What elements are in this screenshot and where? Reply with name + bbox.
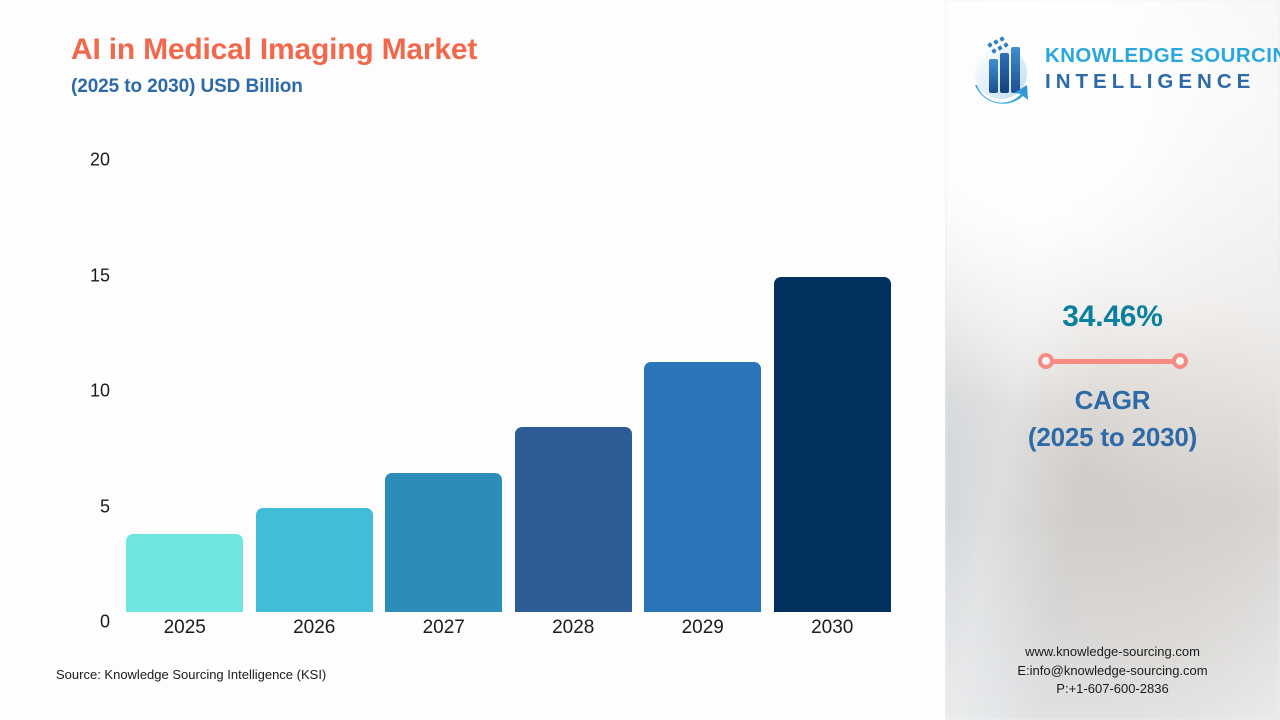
source-note: Source: Knowledge Sourcing Intelligence … xyxy=(56,667,326,682)
cagr-connector-graphic xyxy=(1038,349,1188,373)
y-axis-tick-label: 20 xyxy=(90,150,110,171)
bar-group: 2030 xyxy=(768,150,898,612)
bar-group: 2027 xyxy=(379,150,509,612)
bar-group: 2026 xyxy=(250,150,380,612)
brand-sidebar: KNOWLEDGE SOURCING INTELLIGENCE 34.46% C… xyxy=(945,0,1280,720)
contact-email[interactable]: E:info@knowledge-sourcing.com xyxy=(945,662,1280,680)
connector-dot-left xyxy=(1038,353,1054,369)
chart-panel: AI in Medical Imaging Market (2025 to 20… xyxy=(0,0,945,720)
bar-2028[interactable] xyxy=(515,427,632,612)
page-title: AI in Medical Imaging Market xyxy=(71,33,477,67)
bar-2025[interactable] xyxy=(126,534,243,612)
bar-2026[interactable] xyxy=(256,508,373,612)
contact-block: www.knowledge-sourcing.com E:info@knowle… xyxy=(945,643,1280,698)
y-axis-tick-label: 15 xyxy=(90,265,110,286)
y-axis-tick-label: 5 xyxy=(100,496,110,517)
bar-2029[interactable] xyxy=(644,362,761,612)
contact-phone: P:+1-607-600-2836 xyxy=(945,680,1280,698)
x-axis-tick-label: 2029 xyxy=(638,617,768,639)
bar-group: 2029 xyxy=(638,150,768,612)
cagr-block: 34.46% CAGR (2025 to 2030) xyxy=(945,300,1280,453)
brand-logo: KNOWLEDGE SOURCING INTELLIGENCE xyxy=(967,30,1267,108)
x-axis-tick-label: 2030 xyxy=(768,617,898,639)
x-axis-tick-label: 2028 xyxy=(509,617,639,639)
cagr-value: 34.46% xyxy=(945,300,1280,334)
bar-group: 2025 xyxy=(120,150,250,612)
cagr-period: (2025 to 2030) xyxy=(945,422,1280,453)
x-axis-tick-label: 2026 xyxy=(250,617,380,639)
y-axis-tick-label: 0 xyxy=(100,612,110,633)
infographic-page: AI in Medical Imaging Market (2025 to 20… xyxy=(0,0,1280,720)
knowledge-sourcing-logo-icon xyxy=(967,33,1039,105)
y-axis-tick-label: 10 xyxy=(90,381,110,402)
bar-series: 202520262027202820292030 xyxy=(120,150,910,612)
cagr-label: CAGR xyxy=(945,385,1280,416)
bar-2027[interactable] xyxy=(385,473,502,612)
bar-group: 2028 xyxy=(509,150,639,612)
connector-dot-right xyxy=(1172,353,1188,369)
connector-line xyxy=(1046,359,1180,364)
logo-line-1: KNOWLEDGE SOURCING xyxy=(1045,46,1280,67)
chart-subtitle: (2025 to 2030) USD Billion xyxy=(71,76,303,98)
x-axis-tick-label: 2027 xyxy=(379,617,509,639)
logo-wordmark: KNOWLEDGE SOURCING INTELLIGENCE xyxy=(1045,46,1280,92)
contact-website[interactable]: www.knowledge-sourcing.com xyxy=(945,643,1280,661)
logo-line-2: INTELLIGENCE xyxy=(1045,72,1280,93)
bar-2030[interactable] xyxy=(774,277,891,612)
x-axis-tick-label: 2025 xyxy=(120,617,250,639)
bar-chart-plot: 05101520 202520262027202820292030 xyxy=(120,150,910,622)
